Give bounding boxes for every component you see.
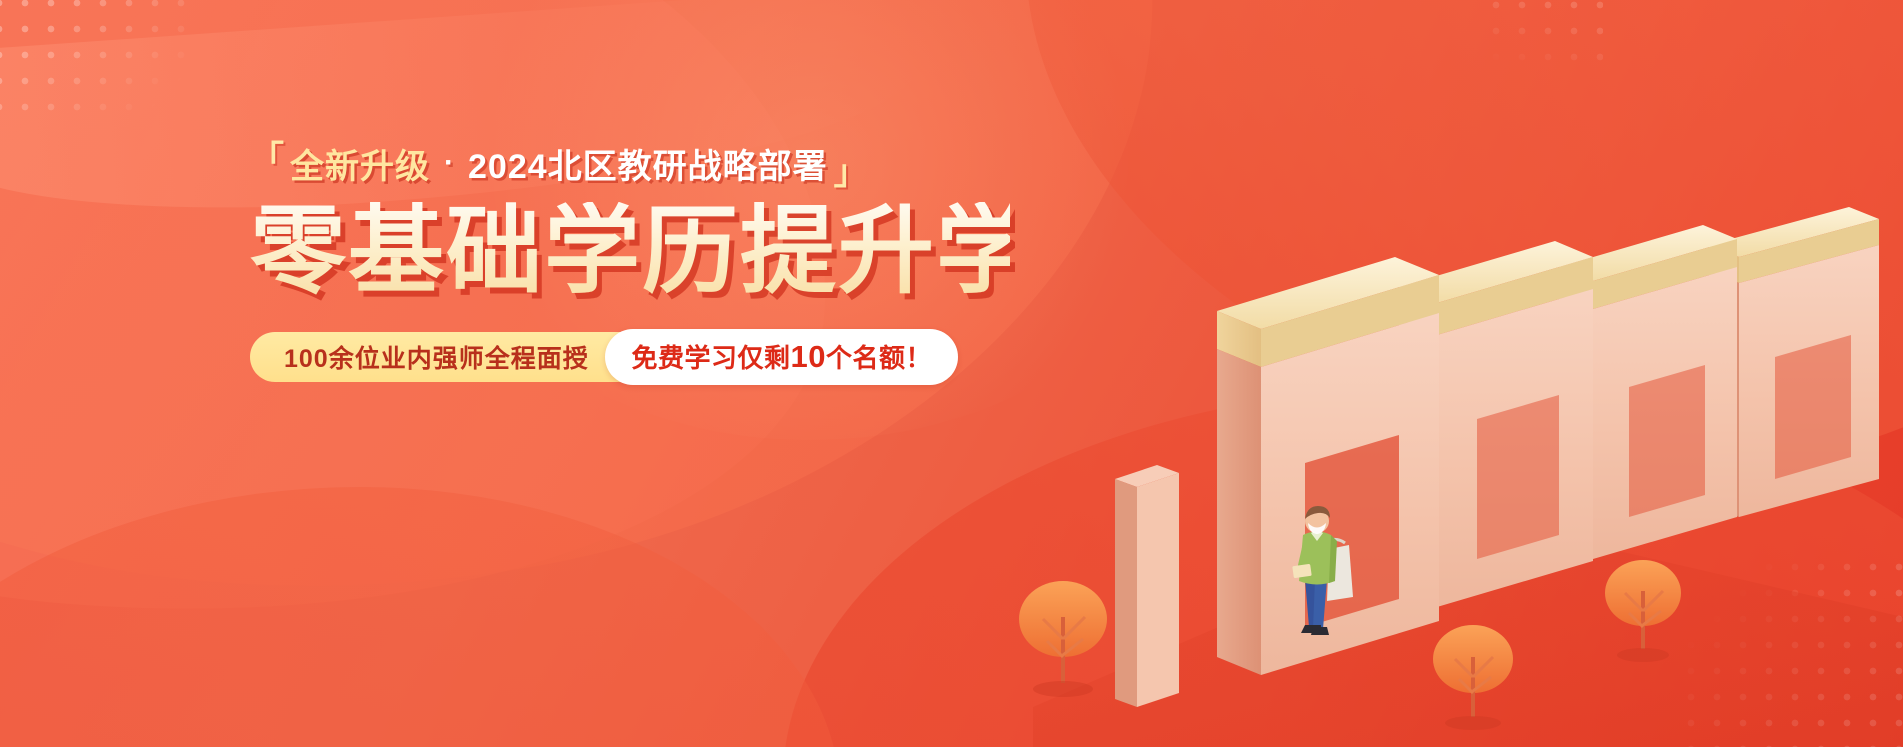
bg-wave-shape <box>0 487 840 747</box>
seats-prefix: 免费学习仅剩 <box>631 343 790 373</box>
dot-grid-top-left <box>0 0 201 125</box>
seats-count: 10 <box>791 339 826 374</box>
seats-left-label: 免费学习仅剩10个名额！ <box>631 338 932 375</box>
eyebrow-separator-icon: · <box>444 146 454 180</box>
banner-copy: 「 全新升级 · 2024北区教研战略部署 」 零基础学历提升学霸班 100余位… <box>250 140 1010 382</box>
small-pillar <box>1115 465 1179 707</box>
book-arch-1 <box>1217 257 1439 675</box>
eyebrow-gold-text: 全新升级 <box>290 139 430 188</box>
eyebrow-white-text: 2024北区教研战略部署 <box>468 139 828 188</box>
badge-row: 100余位业内强师全程面授 免费学习仅剩10个名额！ <box>250 332 956 382</box>
eyebrow-line: 「 全新升级 · 2024北区教研战略部署 」 <box>250 140 1010 186</box>
seats-suffix: 个名额！ <box>826 343 932 373</box>
promo-banner: 「 全新升级 · 2024北区教研战略部署 」 零基础学历提升学霸班 100余位… <box>0 0 1903 747</box>
instructors-badge-label: 100余位业内强师全程面授 <box>284 332 589 382</box>
page-title: 零基础学历提升学霸班 <box>250 202 1010 302</box>
tree-left <box>1019 581 1107 697</box>
close-bracket-icon: 」 <box>834 156 868 190</box>
seats-left-badge[interactable]: 免费学习仅剩10个名额！ <box>605 329 958 385</box>
dot-grid-top-right <box>1483 0 1603 78</box>
open-bracket-icon: 「 <box>250 142 284 176</box>
